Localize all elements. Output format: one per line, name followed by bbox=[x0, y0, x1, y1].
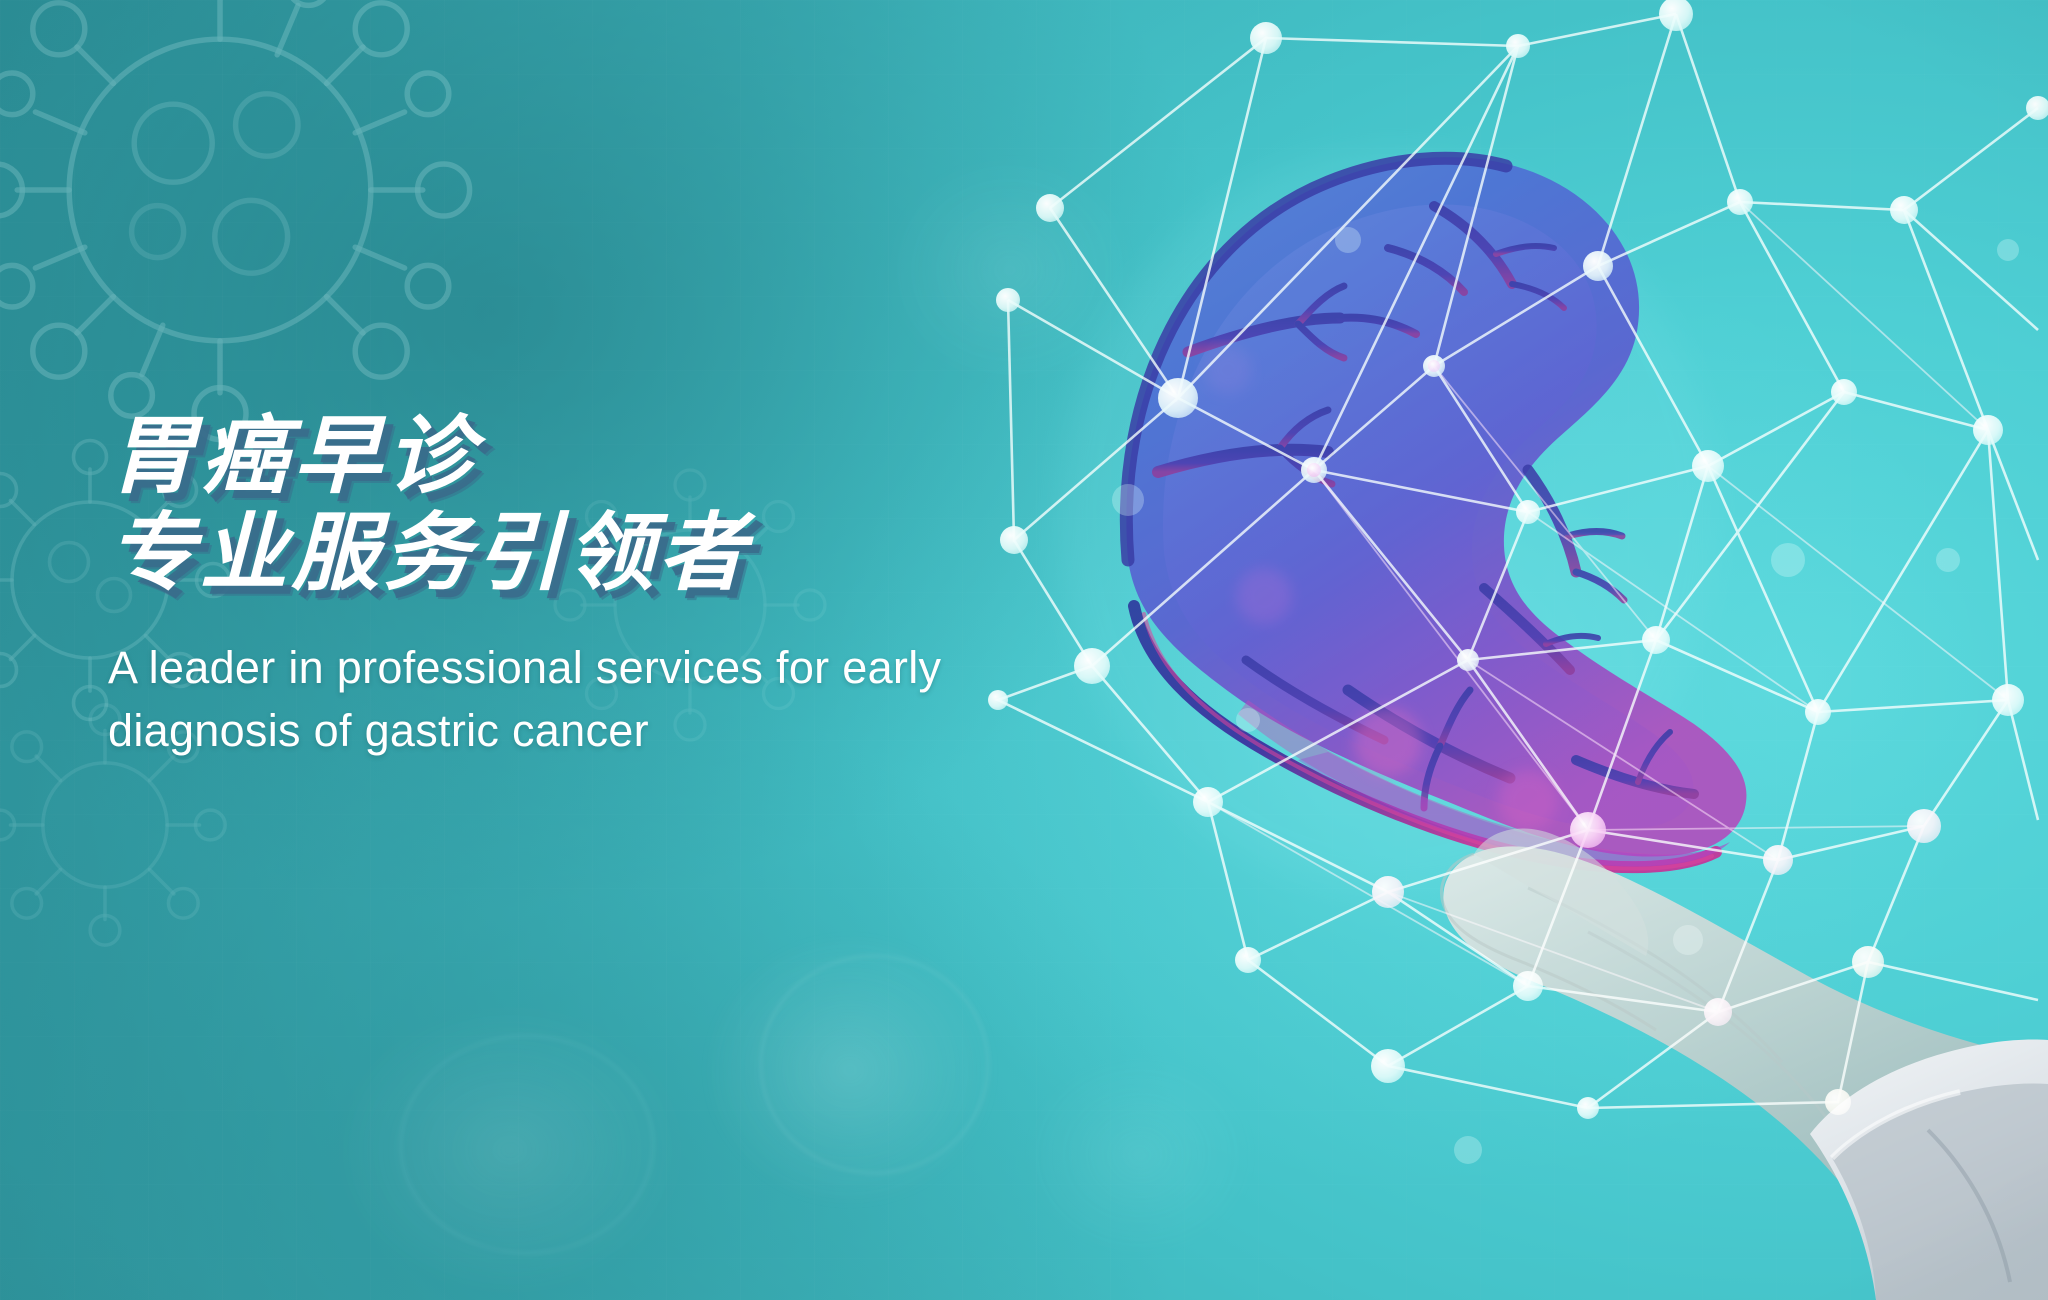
headline-line-2: 专业服务引领者 bbox=[108, 505, 1138, 602]
subtitle-line-2: diagnosis of gastric cancer bbox=[108, 699, 1108, 762]
hero-copy: 胃癌早诊 专业服务引领者 A leader in professional se… bbox=[108, 408, 1108, 762]
subtitle-line-1: A leader in professional services for ea… bbox=[108, 636, 1108, 699]
subtitle: A leader in professional services for ea… bbox=[108, 636, 1108, 762]
hero-banner: 胃癌早诊 专业服务引领者 A leader in professional se… bbox=[0, 0, 2048, 1300]
headline-line-1: 胃癌早诊 bbox=[108, 408, 1138, 505]
